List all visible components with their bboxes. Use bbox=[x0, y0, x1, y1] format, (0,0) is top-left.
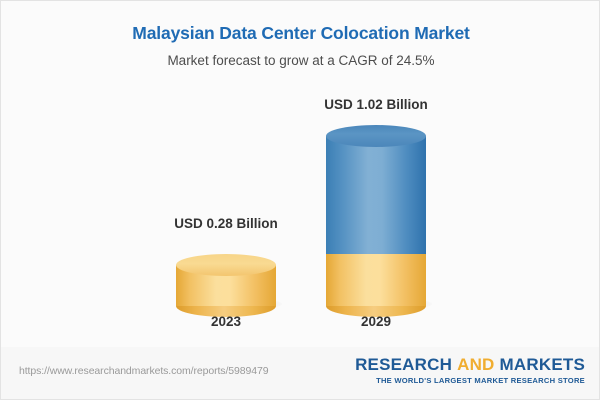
axis-tick-label-2029: 2029 bbox=[266, 314, 486, 329]
cylinder-body-growth-2029 bbox=[326, 136, 426, 254]
logo-word-research: RESEARCH bbox=[355, 355, 452, 374]
bar-value-label-2023: USD 0.28 Billion bbox=[116, 216, 336, 231]
chart-card: Malaysian Data Center Colocation Market … bbox=[0, 0, 600, 400]
chart-footer: https://www.researchandmarkets.com/repor… bbox=[1, 347, 600, 399]
logo-wordmark: RESEARCHANDMARKETS bbox=[355, 355, 585, 374]
cylinder-cap-2029 bbox=[326, 125, 426, 147]
source-url-link[interactable]: https://www.researchandmarkets.com/repor… bbox=[19, 365, 268, 377]
bar-value-label-2029: USD 1.02 Billion bbox=[266, 97, 486, 112]
cylinder-body-base-2029 bbox=[326, 254, 426, 306]
research-and-markets-logo[interactable]: RESEARCHANDMARKETS THE WORLD'S LARGEST M… bbox=[355, 355, 585, 385]
logo-word-and: AND bbox=[457, 355, 494, 374]
cylinder-cap-2023 bbox=[176, 254, 276, 276]
logo-word-markets: MARKETS bbox=[500, 355, 585, 374]
logo-tagline: THE WORLD'S LARGEST MARKET RESEARCH STOR… bbox=[355, 376, 585, 385]
chart-plot-area: USD 0.28 Billion 2023 USD 1.02 Billion bbox=[1, 1, 600, 346]
